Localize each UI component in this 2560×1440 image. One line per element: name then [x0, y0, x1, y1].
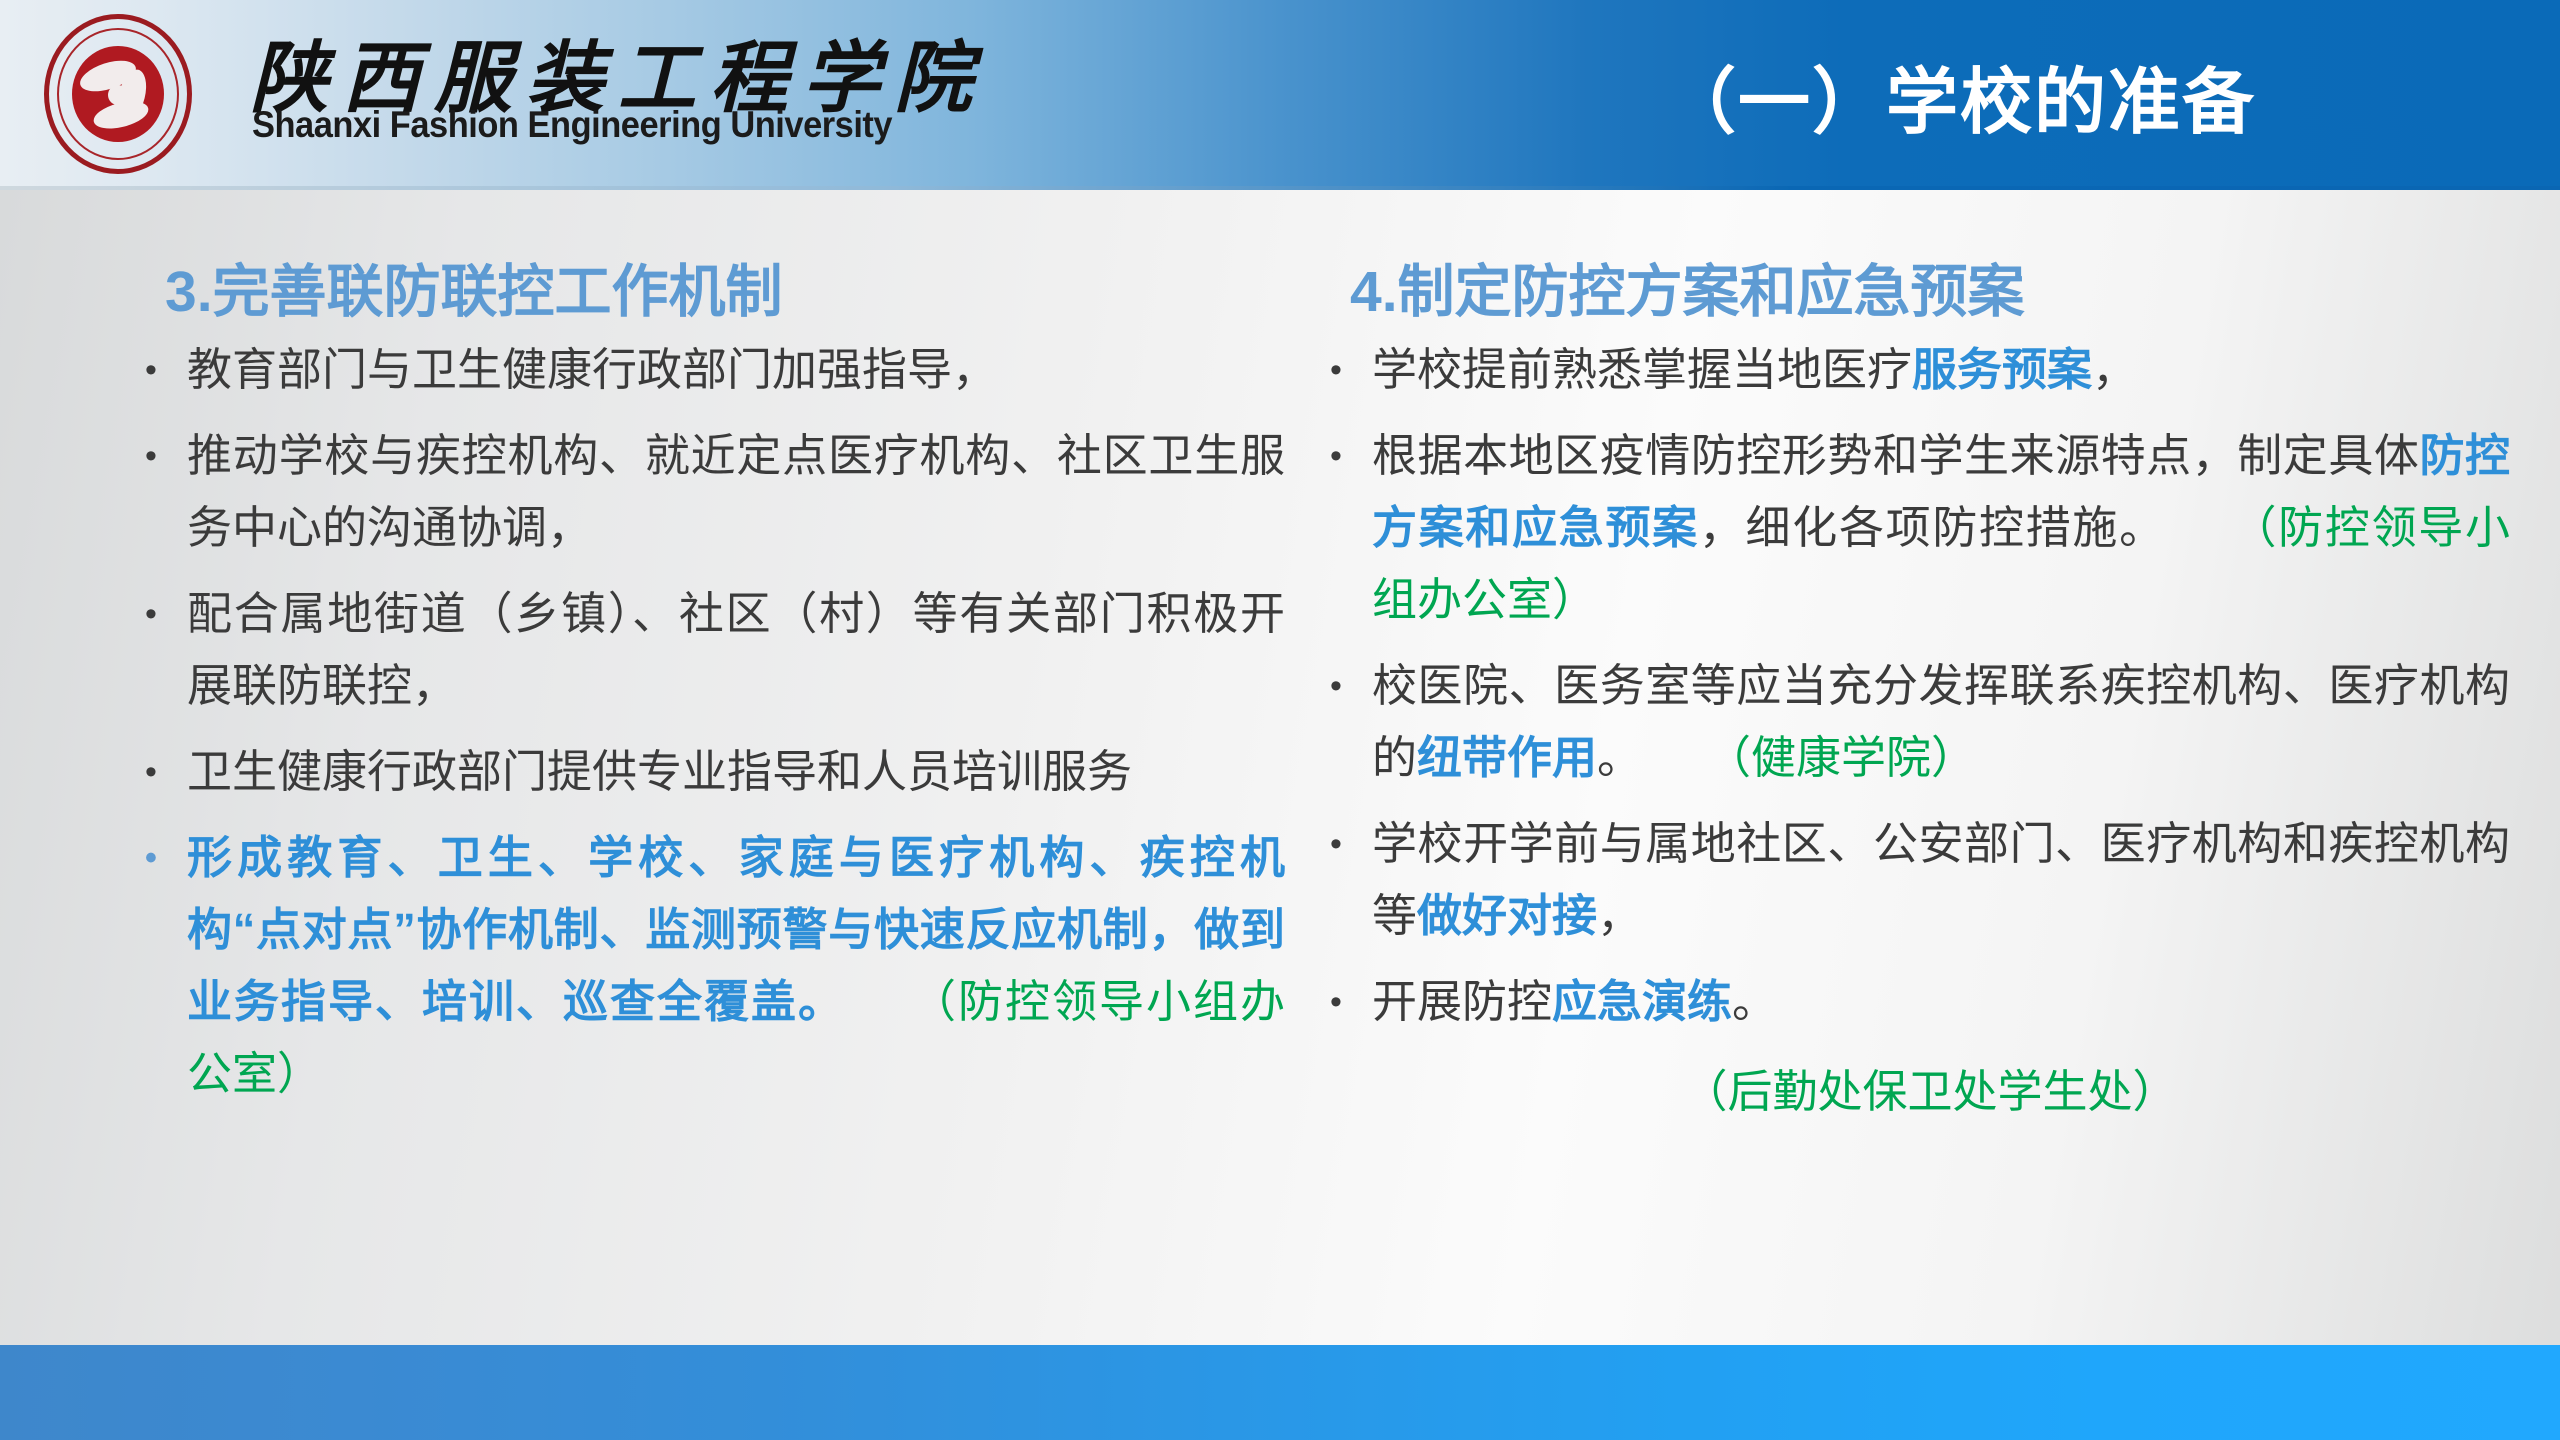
- seal-swirl-icon: [75, 51, 161, 137]
- bullet-item: •根据本地区疫情防控形势和学生来源特点，制定具体防控方案和应急预案，细化各项防控…: [1330, 420, 2510, 636]
- bullet-text: 开展防控应急演练。: [1372, 966, 2510, 1038]
- plain-text: 教育部门与卫生健康行政部门加强指导，: [187, 344, 997, 395]
- bullet-marker-icon: •: [145, 334, 187, 406]
- left-column-bullet-list: •教育部门与卫生健康行政部门加强指导，•推动学校与疾控机构、就近定点医疗机构、社…: [145, 334, 1285, 1110]
- highlight-blue-text: 做好对接: [1417, 890, 1597, 941]
- bullet-text: 校医院、医务室等应当充分发挥联系疾控机构、医疗机构的纽带作用。（健康学院）: [1372, 650, 2510, 794]
- bullet-item: •开展防控应急演练。: [1330, 966, 2510, 1038]
- plain-text: 开展防控: [1372, 976, 1552, 1027]
- bullet-marker-icon: •: [1330, 420, 1372, 492]
- slide-root: 陕西服装工程学院 Shaanxi Fashion Engineering Uni…: [0, 0, 2560, 1440]
- seal-core: [72, 46, 164, 142]
- bullet-item: •卫生健康行政部门提供专业指导和人员培训服务: [145, 736, 1285, 808]
- bullet-marker-icon: •: [145, 578, 187, 650]
- bullet-text: 学校开学前与属地社区、公安部门、医疗机构和疾控机构等做好对接，: [1372, 808, 2510, 952]
- bullet-text: 形成教育、卫生、学校、家庭与医疗机构、疾控机构“点对点”协作机制、监测预警与快速…: [187, 822, 1285, 1110]
- left-column-heading: 3.完善联防联控工作机制: [165, 246, 1285, 328]
- plain-text: 。: [1597, 732, 1642, 783]
- bullet-text: 推动学校与疾控机构、就近定点医疗机构、社区卫生服务中心的沟通协调，: [187, 420, 1285, 564]
- bullet-marker-icon: •: [1330, 966, 1372, 1038]
- slide-header: 陕西服装工程学院 Shaanxi Fashion Engineering Uni…: [0, 0, 2560, 190]
- plain-text: 根据本地区疫情防控形势和学生来源特点，制定具体: [1372, 430, 2419, 481]
- plain-text: ，细化各项防控措施。: [1699, 502, 2166, 553]
- right-column-bullet-list: •学校提前熟悉掌握当地医疗服务预案，•根据本地区疫情防控形势和学生来源特点，制定…: [1330, 334, 2510, 1038]
- bullet-text: 教育部门与卫生健康行政部门加强指导，: [187, 334, 1285, 406]
- bullet-marker-icon: •: [1330, 650, 1372, 722]
- plain-text: 。: [1732, 976, 1777, 1027]
- highlight-blue-text: 服务预案: [1912, 344, 2092, 395]
- bullet-item: •配合属地街道（乡镇）、社区（村）等有关部门积极开展联防联控，: [145, 578, 1285, 722]
- bullet-text: 根据本地区疫情防控形势和学生来源特点，制定具体防控方案和应急预案，细化各项防控措…: [1372, 420, 2510, 636]
- bullet-marker-icon: •: [145, 736, 187, 808]
- bullet-item: •学校提前熟悉掌握当地医疗服务预案，: [1330, 334, 2510, 406]
- plain-text: 配合属地街道（乡镇）、社区（村）等有关部门积极开展联防联控，: [187, 588, 1285, 711]
- plain-text: ，: [2092, 344, 2137, 395]
- bullet-item: •形成教育、卫生、学校、家庭与医疗机构、疾控机构“点对点”协作机制、监测预警与快…: [145, 822, 1285, 1110]
- responsible-unit-note: （健康学院）: [1706, 732, 1976, 783]
- bullet-text: 学校提前熟悉掌握当地医疗服务预案，: [1372, 334, 2510, 406]
- slide-title: （一）学校的准备: [1450, 0, 2560, 190]
- slide-body: 3.完善联防联控工作机制 •教育部门与卫生健康行政部门加强指导，•推动学校与疾控…: [0, 190, 2560, 1345]
- plain-text: ，: [1597, 890, 1642, 941]
- bullet-item: •推动学校与疾控机构、就近定点医疗机构、社区卫生服务中心的沟通协调，: [145, 420, 1285, 564]
- plain-text: 学校提前熟悉掌握当地医疗: [1372, 344, 1912, 395]
- bullet-item: •学校开学前与属地社区、公安部门、医疗机构和疾控机构等做好对接，: [1330, 808, 2510, 952]
- right-column-tail-note: （后勤处保卫处学生处）: [1350, 1056, 2510, 1128]
- university-name-english: Shaanxi Fashion Engineering University: [252, 104, 892, 146]
- bullet-marker-icon: •: [145, 420, 187, 492]
- bullet-item: •教育部门与卫生健康行政部门加强指导，: [145, 334, 1285, 406]
- right-column-heading: 4.制定防控方案和应急预案: [1350, 246, 2510, 328]
- highlight-blue-text: 应急演练: [1552, 976, 1732, 1027]
- bullet-item: •校医院、医务室等应当充分发挥联系疾控机构、医疗机构的纽带作用。（健康学院）: [1330, 650, 2510, 794]
- right-column: 4.制定防控方案和应急预案 •学校提前熟悉掌握当地医疗服务预案，•根据本地区疫情…: [1330, 190, 2510, 1128]
- slide-footer-bar: [0, 1345, 2560, 1440]
- plain-text: 推动学校与疾控机构、就近定点医疗机构、社区卫生服务中心的沟通协调，: [187, 430, 1285, 553]
- bullet-marker-icon: •: [1330, 808, 1372, 880]
- university-seal-icon: [44, 14, 192, 174]
- bullet-marker-icon: •: [145, 822, 187, 894]
- left-column: 3.完善联防联控工作机制 •教育部门与卫生健康行政部门加强指导，•推动学校与疾控…: [145, 190, 1285, 1124]
- university-logo: [36, 8, 196, 178]
- bullet-marker-icon: •: [1330, 334, 1372, 406]
- plain-text: 卫生健康行政部门提供专业指导和人员培训服务: [187, 746, 1132, 797]
- highlight-blue-text: 纽带作用: [1417, 732, 1597, 783]
- bullet-text: 卫生健康行政部门提供专业指导和人员培训服务: [187, 736, 1285, 808]
- bullet-text: 配合属地街道（乡镇）、社区（村）等有关部门积极开展联防联控，: [187, 578, 1285, 722]
